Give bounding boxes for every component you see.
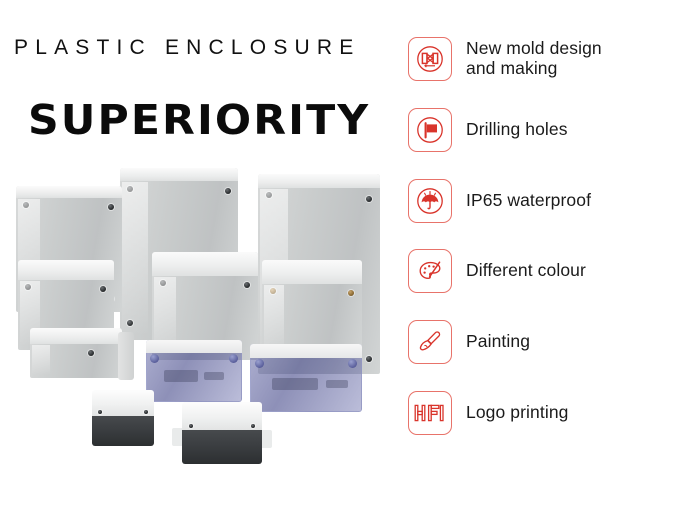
- enclosure-small-dark-2: [182, 402, 262, 464]
- enclosure-mounting-flange: [118, 332, 134, 380]
- product-photo: [0, 160, 400, 470]
- feature-label: IP65 waterproof: [466, 191, 591, 211]
- feature-label: Painting: [466, 332, 530, 352]
- feature-item-logo-printing[interactable]: Logo printing: [408, 384, 680, 442]
- feature-label: Different colour: [466, 261, 586, 281]
- feature-label-line2: and making: [466, 59, 602, 79]
- feature-item-drilling-holes[interactable]: Drilling holes: [408, 101, 680, 159]
- enclosure-small-dark-1: [92, 390, 154, 446]
- enclosure-clear-lid-b: [250, 344, 362, 412]
- drilling-flag-icon: [408, 108, 452, 152]
- promo-banner: PLASTIC ENCLOSURE SUPERIORITY: [0, 0, 680, 521]
- feature-item-painting[interactable]: Painting: [408, 313, 680, 371]
- enclosure-clear-lid-a: [146, 340, 242, 402]
- mold-design-icon: [408, 37, 452, 81]
- umbrella-waterproof-icon: [408, 179, 452, 223]
- feature-label-line1: New mold design: [466, 38, 602, 58]
- feature-label-line1: Different colour: [466, 260, 586, 280]
- left-column: PLASTIC ENCLOSURE SUPERIORITY: [0, 0, 400, 521]
- paint-palette-icon: [408, 249, 452, 293]
- feature-list: New mold design and making Drilling hole…: [400, 0, 680, 521]
- enclosure-box-flanged-left: [30, 328, 122, 378]
- page-kicker: PLASTIC ENCLOSURE: [14, 36, 360, 60]
- hf-logo-icon: [408, 391, 452, 435]
- feature-label: Logo printing: [466, 403, 569, 423]
- feature-label-line1: Drilling holes: [466, 119, 568, 139]
- feature-label-line1: Logo printing: [466, 402, 569, 422]
- page-title: SUPERIORITY: [28, 96, 370, 144]
- feature-label-line1: IP65 waterproof: [466, 190, 591, 210]
- paintbrush-icon: [408, 320, 452, 364]
- feature-label-line1: Painting: [466, 331, 530, 351]
- feature-label: New mold design and making: [466, 39, 602, 78]
- feature-item-ip65-waterproof[interactable]: IP65 waterproof: [408, 172, 680, 230]
- feature-label: Drilling holes: [466, 120, 568, 140]
- feature-item-new-mold-design[interactable]: New mold design and making: [408, 30, 680, 88]
- feature-item-different-colour[interactable]: Different colour: [408, 242, 680, 300]
